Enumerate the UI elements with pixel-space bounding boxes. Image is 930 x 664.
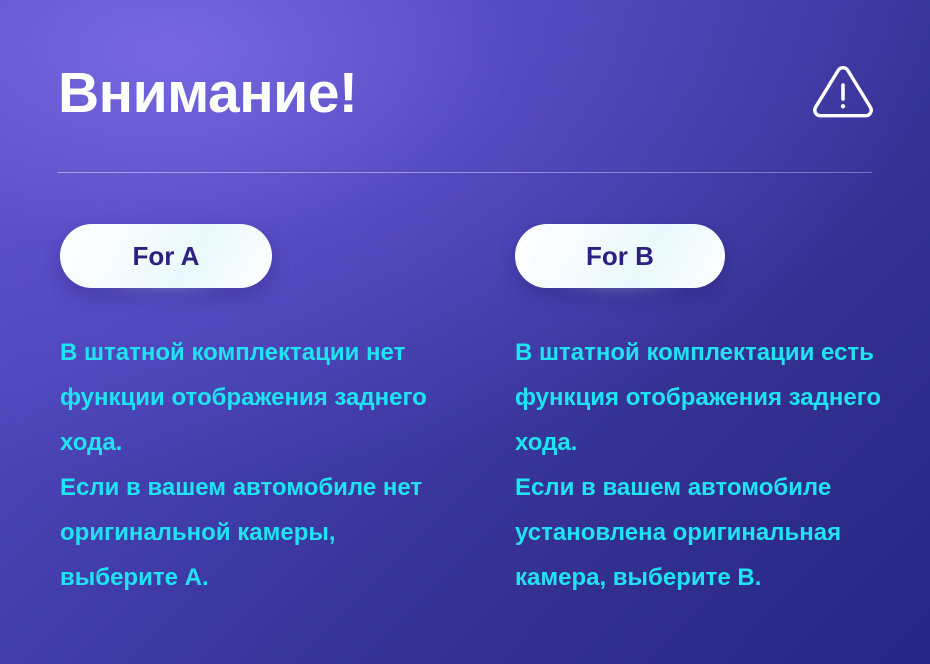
option-b-column: For B В штатной комплектации есть функци… [515, 214, 930, 600]
option-b-button-label: For B [586, 243, 654, 269]
option-a-description: В штатной комплектации нет функции отобр… [60, 330, 460, 600]
option-a-pill-wrap: For A [60, 214, 272, 288]
option-a-button[interactable]: For A [60, 224, 272, 288]
warning-notice-slide: Внимание! For A В штатной комплектации н… [0, 0, 930, 664]
page-title: Внимание! [58, 65, 357, 122]
option-a-column: For A В штатной комплектации нет функции… [60, 214, 475, 600]
option-b-button[interactable]: For B [515, 224, 725, 288]
option-a-paragraph-1: В штатной комплектации нет функции отобр… [60, 330, 460, 465]
option-a-button-label: For A [133, 243, 200, 269]
header: Внимание! [58, 52, 874, 134]
warning-triangle-icon [812, 65, 874, 121]
option-b-description: В штатной комплектации есть функция отоб… [515, 330, 915, 600]
option-b-paragraph-1: В штатной комплектации есть функция отоб… [515, 330, 915, 465]
option-b-paragraph-2: Если в вашем автомобиле установлена ориг… [515, 465, 915, 600]
option-b-pill-wrap: For B [515, 214, 725, 288]
option-a-paragraph-2: Если в вашем автомобиле нет оригинальной… [60, 465, 460, 600]
header-divider [58, 172, 872, 173]
options-columns: For A В штатной комплектации нет функции… [0, 214, 930, 600]
